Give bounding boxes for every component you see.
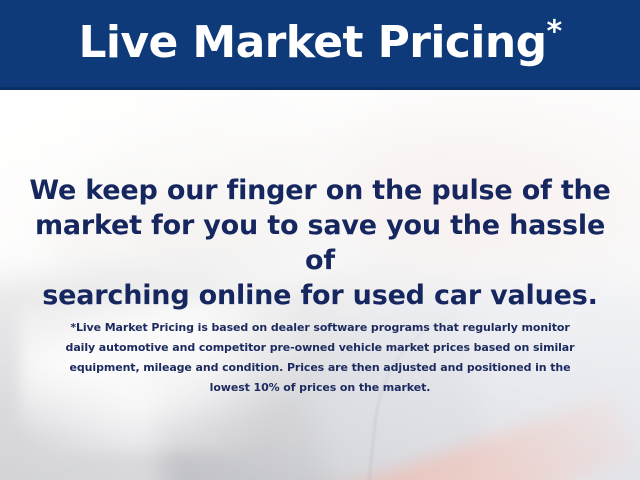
headline-line-3: searching online for used car values. xyxy=(24,278,616,313)
header-band: Live Market Pricing* xyxy=(0,0,640,90)
headline: We keep our finger on the pulse of the m… xyxy=(24,173,616,313)
page-title-text: Live Market Pricing xyxy=(78,17,546,68)
disclaimer-text: *Live Market Pricing is based on dealer … xyxy=(26,318,614,398)
headline-line-1: We keep our finger on the pulse of the xyxy=(24,173,616,208)
disclaimer-line-1: *Live Market Pricing is based on dealer … xyxy=(26,318,614,338)
disclaimer-line-4: lowest 10% of prices on the market. xyxy=(26,378,614,398)
headline-line-2: market for you to save you the hassle of xyxy=(24,208,616,278)
page-title: Live Market Pricing* xyxy=(78,21,561,69)
disclaimer-line-3: equipment, mileage and condition. Prices… xyxy=(26,358,614,378)
banner-content: We keep our finger on the pulse of the m… xyxy=(0,90,640,480)
live-market-pricing-banner: Live Market Pricing* We keep our finger … xyxy=(0,0,640,480)
page-title-asterisk: * xyxy=(546,14,561,49)
disclaimer-line-2: daily automotive and competitor pre-owne… xyxy=(26,338,614,358)
